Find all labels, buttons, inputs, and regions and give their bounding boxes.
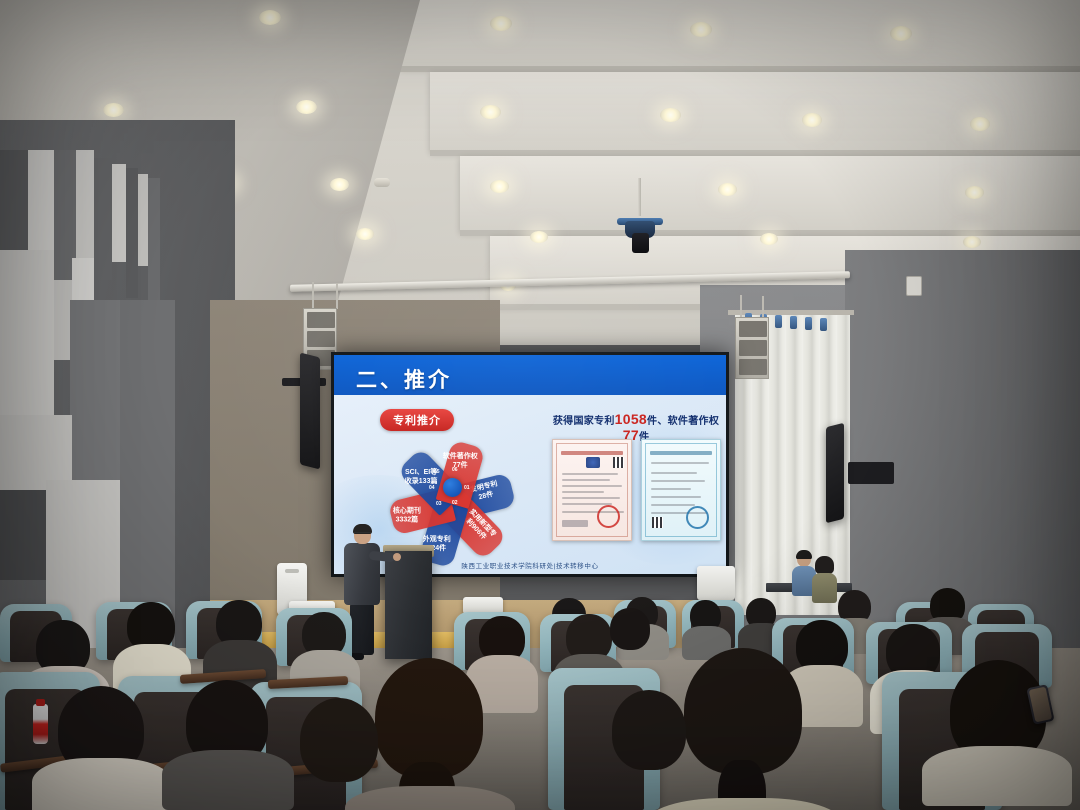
software-copyright-certificate-image [641, 439, 721, 541]
stage-spotlight [604, 288, 630, 322]
national-emblem-icon [586, 457, 600, 468]
camera-lens-icon [632, 233, 649, 253]
qr-code-icon [652, 517, 663, 528]
curtain-hook [805, 317, 812, 330]
segment-number-02: 02 [452, 500, 458, 506]
stage-spotlight [780, 292, 806, 326]
downlight [103, 103, 124, 117]
downlight [965, 186, 984, 199]
downlight [760, 233, 778, 245]
stage-spotlight [516, 286, 542, 320]
segment-number-06: 06 [452, 467, 458, 473]
slide-title: 二、推介 [356, 364, 452, 394]
patent-pinwheel-chart: 发明专利 28件 实用新型专 利906件 外观专利 124件 [372, 415, 532, 560]
bottle-cap [36, 699, 45, 706]
presenter-legs [350, 603, 374, 655]
downlight [890, 26, 912, 41]
presenter-hand [393, 553, 401, 561]
certificate-images [548, 439, 724, 541]
speaker-hanger [312, 282, 314, 308]
qr-code-icon [613, 457, 624, 468]
podium [385, 551, 432, 659]
downlight [970, 117, 990, 131]
red-official-stamp-icon [597, 505, 620, 528]
blue-official-stamp-icon [686, 506, 709, 529]
speaker-hanger [762, 296, 764, 318]
segment-number-03: 03 [436, 501, 442, 507]
downlight [296, 100, 317, 114]
downlight [330, 178, 349, 191]
stage-spotlight [692, 290, 718, 324]
stage-spotlight [384, 283, 410, 317]
downlight [963, 236, 981, 248]
segment-number-05: 05 [434, 469, 440, 475]
auditorium-photo-scene: 二、推介 专利推介 发明专利 28件 实用新型专 利906件 [0, 0, 1080, 810]
signature [562, 520, 588, 527]
wall-monitor [826, 423, 844, 523]
stage-spotlight [560, 287, 586, 321]
wall-control-plate[interactable] [906, 276, 922, 296]
stage-spotlight [822, 293, 848, 327]
downlight [356, 228, 374, 240]
segment-number-04: 04 [429, 485, 435, 491]
patent-certificate-image [552, 439, 632, 541]
smoke-detector-icon [374, 178, 390, 187]
segment-label-04: 核心期刊 3332篇 [382, 506, 432, 525]
equipment-cabinet [697, 566, 735, 600]
chart-hub [443, 478, 462, 497]
downlight [530, 231, 548, 243]
downlight [490, 180, 509, 193]
water-bottle[interactable] [33, 704, 48, 744]
stage-spotlight [648, 289, 674, 323]
stage-spotlight [472, 285, 498, 319]
downlight [718, 183, 737, 196]
speaker-hanger [336, 283, 338, 309]
phone-screen [1029, 687, 1052, 723]
downlight [690, 22, 712, 37]
downlight [802, 113, 822, 127]
segment-number-01: 01 [464, 485, 470, 491]
camera-mount-rod [638, 178, 641, 216]
downlight [660, 108, 681, 122]
monitor-arm [848, 462, 894, 484]
glasses-icon [354, 532, 371, 536]
presentation-slide: 二、推介 专利推介 发明专利 28件 实用新型专 利906件 [334, 355, 726, 574]
staff-member [812, 558, 837, 600]
stage-spotlight [428, 284, 454, 318]
stage-spotlight [340, 282, 366, 316]
speaker-hanger [740, 295, 742, 317]
line-array-speaker [735, 317, 769, 379]
projection-screen: 二、推介 专利推介 发明专利 28件 实用新型专 利906件 [331, 352, 729, 577]
downlight [490, 16, 512, 31]
downlight [259, 10, 281, 25]
left-wall-acoustic-panels [0, 150, 175, 670]
downlight [480, 105, 501, 119]
wall-monitor [300, 353, 320, 470]
segment-label-06: 软件著作权 77件 [435, 452, 485, 471]
